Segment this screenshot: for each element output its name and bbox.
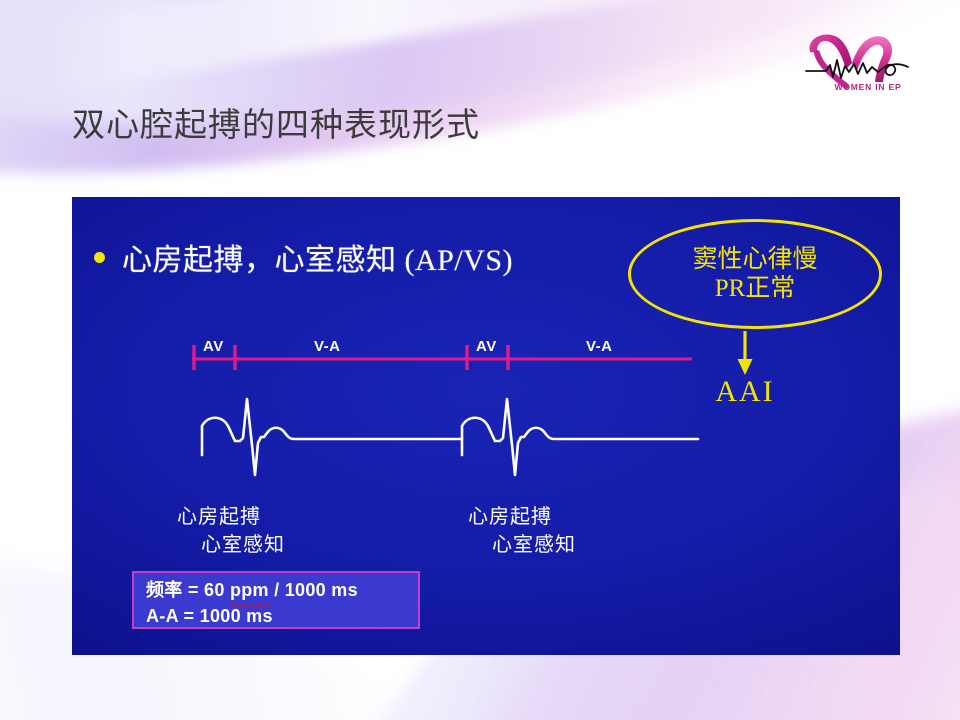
page-title: 双心腔起搏的四种表现形式 [72, 98, 480, 146]
logo-graphic: WOMEN IN EP [796, 22, 936, 94]
pacing-mode-label: AAI [699, 375, 791, 409]
rate-info-box: 频率 = 60 ppm / 1000 ms A-A = 1000 ms [132, 571, 420, 629]
spellcheck-word-ppm: ppm [230, 578, 269, 604]
callout-line-2: PR正常 [715, 274, 796, 304]
timing-label-va-1: V-A [314, 338, 341, 355]
top-swoosh-highlight [40, 0, 861, 94]
annotation-1-line-1: 心房起搏 [177, 500, 261, 529]
timing-diagram [192, 337, 692, 371]
slide-image: 心房起搏，心室感知 (AP/VS) 窦性心律慢 PR正常 AAI AV V-A … [72, 197, 900, 655]
timing-label-av-1: AV [203, 338, 224, 355]
women-in-ep-logo: WOMEN IN EP [796, 22, 936, 94]
annotation-2-line-2: 心室感知 [492, 528, 576, 557]
bullet-dot-icon [94, 252, 105, 263]
timing-label-av-2: AV [476, 338, 497, 355]
callout-ellipse: 窦性心律慢 PR正常 [628, 219, 882, 329]
bullet-row: 心房起搏，心室感知 (AP/VS) [94, 235, 513, 279]
rate-info-prefix: 频率 = 60 [146, 580, 230, 600]
rate-info-suffix: / 1000 ms [269, 580, 358, 600]
rate-info-line-2: A-A = 1000 ms [146, 604, 418, 630]
annotation-1-line-2: 心室感知 [201, 528, 285, 557]
logo-caption: WOMEN IN EP [835, 82, 902, 92]
timing-label-va-2: V-A [586, 338, 613, 355]
ecg-waveform [200, 393, 700, 483]
rate-info-line-1: 频率 = 60 ppm / 1000 ms [146, 578, 418, 604]
bullet-text: 心房起搏，心室感知 (AP/VS) [122, 235, 513, 279]
slide-page: WOMEN IN EP 双心腔起搏的四种表现形式 心房起搏，心室感知 (AP/V… [0, 0, 960, 720]
down-arrow-icon [733, 330, 757, 376]
callout-line-1: 窦性心律慢 [692, 245, 817, 275]
annotation-2-line-1: 心房起搏 [468, 500, 552, 529]
